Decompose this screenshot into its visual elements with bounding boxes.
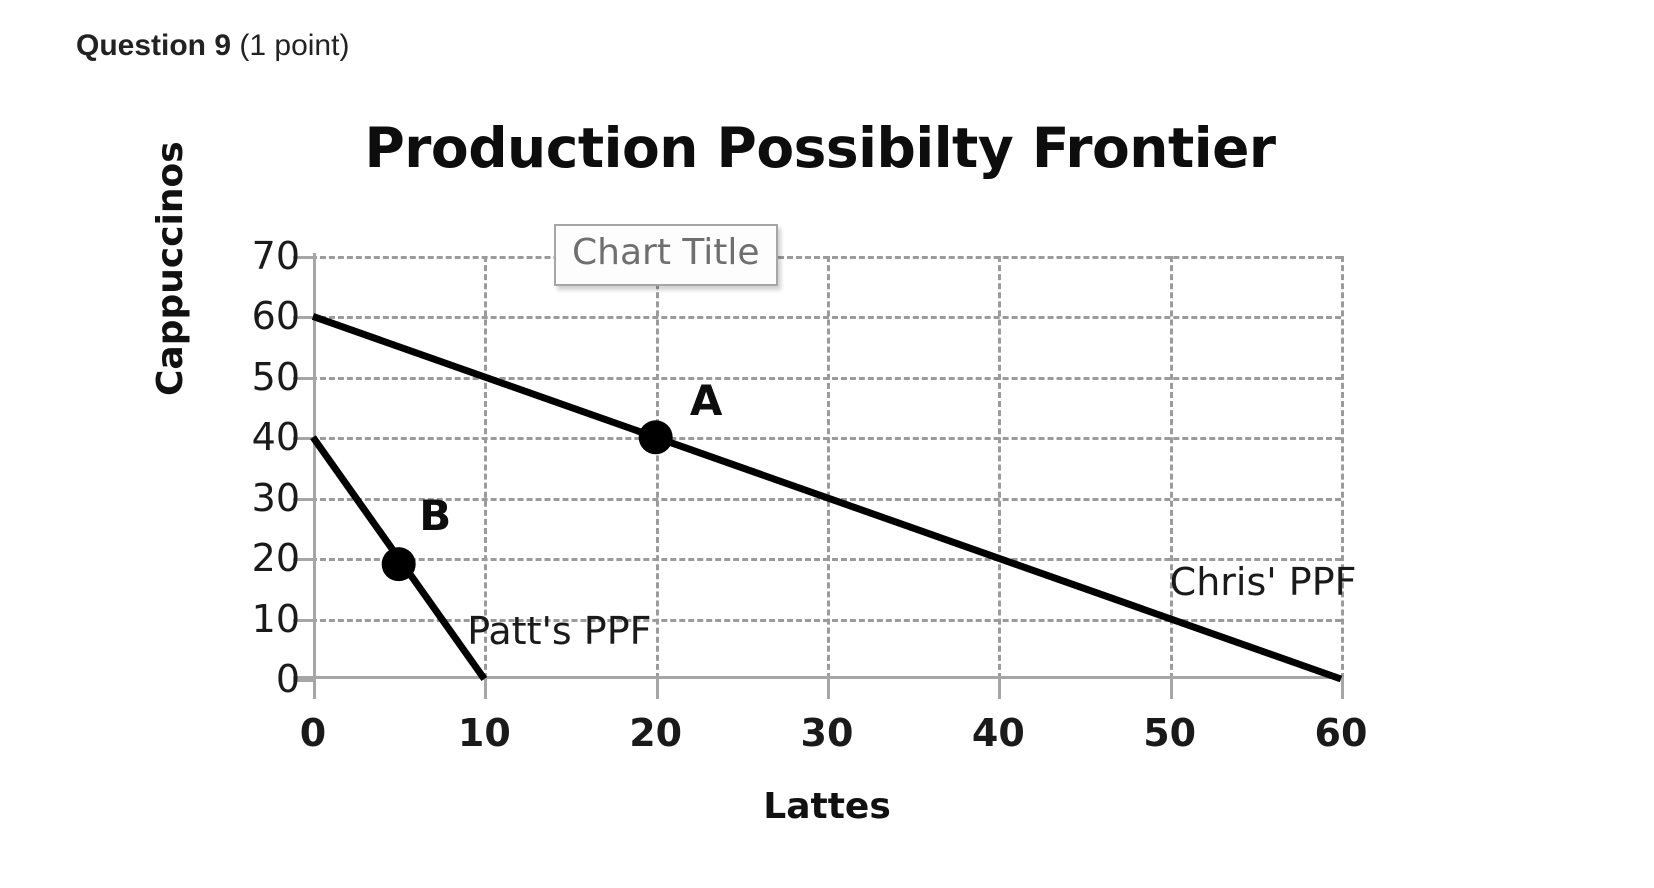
y-tick-label: 20: [210, 539, 300, 577]
gridline-vertical: [1341, 256, 1344, 679]
x-tick: [827, 679, 830, 699]
data-point-marker: [639, 420, 673, 454]
x-tick: [313, 679, 316, 699]
ppf-chart-figure: Production Possibilty Frontier Cappuccin…: [0, 96, 1654, 876]
y-tick-label: 10: [210, 600, 300, 638]
point-label: B: [419, 495, 451, 537]
y-tick-label: 70: [210, 237, 300, 275]
series-label: Chris' PPF: [1170, 563, 1357, 601]
y-axis-title: Cappuccinos: [150, 141, 191, 396]
y-tick-label: 0: [210, 660, 300, 698]
question-header: Question 9 (1 point): [76, 26, 349, 66]
x-tick: [484, 679, 487, 699]
y-tick-label: 40: [210, 418, 300, 456]
x-tick: [656, 679, 659, 699]
x-axis-title: Lattes: [313, 786, 1341, 827]
x-tick-label: 60: [1281, 714, 1401, 752]
x-tick: [1341, 679, 1344, 699]
x-tick: [998, 679, 1001, 699]
y-tick-label: 60: [210, 297, 300, 335]
x-tick-label: 40: [938, 714, 1058, 752]
plot-area: 010203040506070 0102030405060 Chris' PPF…: [313, 256, 1341, 679]
point-label: A: [690, 380, 723, 422]
x-tick-label: 0: [253, 714, 373, 752]
series-label: Patt's PPF: [467, 612, 651, 650]
y-tick-label: 30: [210, 479, 300, 517]
data-point-marker: [382, 547, 416, 581]
question-label: Question 9: [76, 29, 231, 62]
y-tick-label: 50: [210, 358, 300, 396]
x-tick: [1170, 679, 1173, 699]
chart-title-placeholder[interactable]: Chart Title: [554, 224, 778, 286]
x-tick-label: 30: [767, 714, 887, 752]
chart-heading: Production Possibilty Frontier: [200, 116, 1440, 180]
question-points: (1 point): [239, 29, 349, 62]
x-tick-label: 50: [1110, 714, 1230, 752]
x-tick-label: 20: [596, 714, 716, 752]
x-tick-label: 10: [424, 714, 544, 752]
